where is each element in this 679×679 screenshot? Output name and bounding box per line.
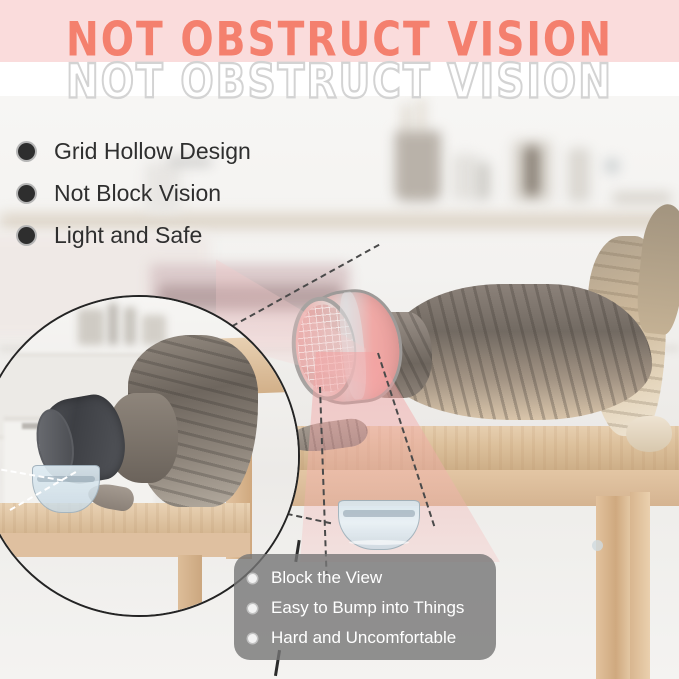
list-item: Grid Hollow Design [18, 130, 251, 172]
inset-shelf-item-2 [108, 303, 118, 345]
table-leg [596, 496, 632, 679]
inset-table-apron [0, 533, 250, 557]
drawback-label: Block the View [271, 568, 382, 588]
benefits-list: Grid Hollow Design Not Block Vision Ligh… [18, 130, 251, 256]
list-item: Block the View [248, 563, 496, 593]
bullet-dot-icon [18, 143, 35, 160]
list-item: Hard and Uncomfortable [248, 623, 496, 653]
list-item: Light and Safe [18, 214, 251, 256]
background-knob [604, 158, 620, 174]
background-pot [395, 131, 441, 201]
bullet-dot-icon [18, 185, 35, 202]
inset-shelf-item-3 [124, 307, 136, 345]
background-bottle [568, 148, 590, 202]
table-screw [592, 540, 603, 551]
inset-table-leg [178, 555, 202, 617]
bullet-dot-icon [248, 634, 257, 643]
benefit-label: Grid Hollow Design [54, 138, 251, 165]
drawbacks-panel: Block the View Easy to Bump into Things … [234, 554, 496, 660]
table-leg-back [630, 492, 650, 679]
cat-back-paw [626, 416, 672, 452]
background-right-counter [612, 192, 672, 204]
list-item: Easy to Bump into Things [248, 593, 496, 623]
drawback-label: Hard and Uncomfortable [271, 628, 456, 648]
background-jar-dark [524, 146, 540, 196]
benefit-label: Not Block Vision [54, 180, 221, 207]
list-item: Not Block Vision [18, 172, 251, 214]
bullet-dot-icon [248, 604, 257, 613]
page-title: NOT OBSTRUCT VISION [7, 13, 672, 67]
drawback-label: Easy to Bump into Things [271, 598, 464, 618]
glass-water-bowl [338, 500, 420, 550]
background-cup-2 [476, 162, 490, 200]
product-infographic: NOT OBSTRUCT VISION NOT OBSTRUCT VISION [0, 0, 679, 679]
bullet-dot-icon [18, 227, 35, 244]
benefit-label: Light and Safe [54, 222, 202, 249]
inset-shelf-item-1 [78, 309, 104, 345]
background-cup [452, 154, 478, 200]
bullet-dot-icon [248, 574, 257, 583]
